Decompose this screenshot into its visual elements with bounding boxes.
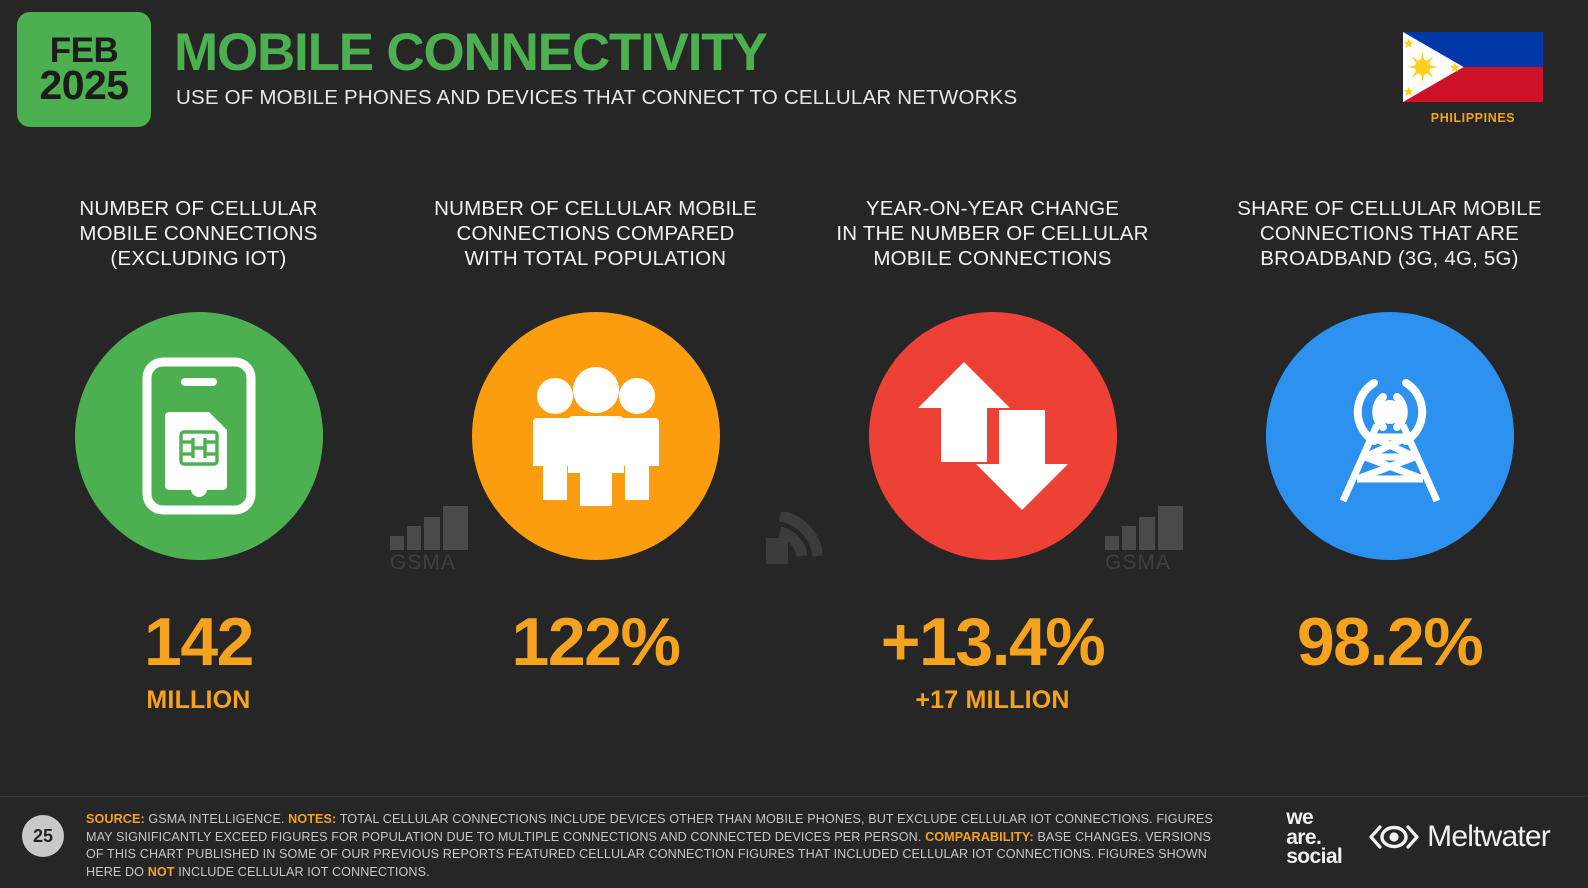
metric-header-line2: CONNECTIONS COMPARED [434,221,757,246]
metric-column-broadband-share: SHARE OF CELLULAR MOBILE CONNECTIONS THA… [1191,196,1588,715]
slide-header: FEB 2025 MOBILE CONNECTIVITY USE OF MOBI… [0,0,1588,150]
metric-circle [472,312,720,560]
metric-header-line2: MOBILE CONNECTIONS [79,221,317,246]
metric-header: NUMBER OF CELLULAR MOBILE CONNECTIONS CO… [434,196,757,276]
we-are-social-logo: we are. social [1286,808,1342,867]
metric-column-yoy-change: YEAR-ON-YEAR CHANGE IN THE NUMBER OF CEL… [794,196,1191,715]
gsma-watermark-label: GSMA [390,551,468,575]
metric-header-line3: WITH TOTAL POPULATION [434,246,757,271]
meltwater-logo: Meltwater [1368,820,1550,854]
three-people-icon [521,366,671,506]
metric-value: 122% [512,608,680,676]
metric-circle [75,312,323,560]
metric-icon-zone [472,312,720,560]
metric-icon-zone [1266,312,1514,560]
metric-icon-zone [869,312,1117,560]
slide-footer: 25 SOURCE: GSMA INTELLIGENCE. NOTES: TOT… [0,796,1588,888]
metric-header-line3: (EXCLUDING IOT) [79,246,317,271]
metric-value: +13.4% [881,608,1105,676]
page-subtitle: USE OF MOBILE PHONES AND DEVICES THAT CO… [176,86,1017,110]
signal-bars-icon [390,506,468,550]
source-label: SOURCE: [86,812,145,826]
source-text: GSMA INTELLIGENCE. [148,812,284,826]
we-are-social-line1: we [1286,808,1342,828]
metric-column-connections: NUMBER OF CELLULAR MOBILE CONNECTIONS (E… [0,196,397,715]
page-title: MOBILE CONNECTIVITY [174,26,767,79]
notes-label: NOTES: [288,812,336,826]
metric-header-line1: YEAR-ON-YEAR CHANGE [836,196,1148,221]
date-year: 2025 [39,67,128,105]
footnote-text: SOURCE: GSMA INTELLIGENCE. NOTES: TOTAL … [86,811,1226,881]
metric-icon-zone [75,312,323,560]
metric-column-penetration: NUMBER OF CELLULAR MOBILE CONNECTIONS CO… [397,196,794,715]
smartphone-sim-icon [139,356,259,516]
philippines-flag-icon [1403,28,1543,106]
metric-header-line1: NUMBER OF CELLULAR [79,196,317,221]
metric-header-line3: MOBILE CONNECTIONS [836,246,1148,271]
slide-root: FEB 2025 MOBILE CONNECTIVITY USE OF MOBI… [0,0,1588,888]
metric-header: YEAR-ON-YEAR CHANGE IN THE NUMBER OF CEL… [836,196,1148,276]
comparability-label: COMPARABILITY: [925,830,1034,844]
gsma-watermark-label: GSMA [1105,551,1183,575]
metric-header-line1: NUMBER OF CELLULAR MOBILE [434,196,757,221]
metric-value: 98.2% [1297,608,1482,676]
metric-value-sub: MILLION [146,686,250,715]
datareportal-watermark [758,512,822,573]
footer-divider [0,796,1588,797]
country-flag-block: PHILIPPINES [1403,28,1543,125]
metric-header-line1: SHARE OF CELLULAR MOBILE [1237,196,1541,221]
page-number-badge: 25 [22,815,64,857]
metric-header: NUMBER OF CELLULAR MOBILE CONNECTIONS (E… [79,196,317,276]
metric-value-sub: +17 MILLION [915,686,1069,715]
metrics-row: NUMBER OF CELLULAR MOBILE CONNECTIONS (E… [0,196,1588,715]
signal-bars-icon [1105,506,1183,550]
metric-header-line2: IN THE NUMBER OF CELLULAR [836,221,1148,246]
meltwater-eye-icon [1368,824,1420,850]
metric-value: 142 [144,608,253,676]
up-down-arrows-icon [918,358,1068,514]
footnote-tail: INCLUDE CELLULAR IOT CONNECTIONS. [178,865,430,879]
not-emphasis: NOT [148,865,175,879]
signal-wave-icon [758,512,822,568]
metric-header-line3: BROADBAND (3G, 4G, 5G) [1237,246,1541,271]
we-are-social-line3: social [1286,847,1342,867]
brand-logos: we are. social Meltwater [1286,808,1550,867]
metric-header-line2: CONNECTIONS THAT ARE [1237,221,1541,246]
meltwater-wordmark: Meltwater [1427,820,1550,854]
gsma-watermark: GSMA [1105,506,1183,575]
metric-circle [869,312,1117,560]
date-badge: FEB 2025 [17,12,151,127]
metric-header: SHARE OF CELLULAR MOBILE CONNECTIONS THA… [1237,196,1541,276]
cell-tower-icon [1315,361,1465,511]
country-label: PHILIPPINES [1403,111,1543,125]
gsma-watermark: GSMA [390,506,468,575]
metric-circle [1266,312,1514,560]
